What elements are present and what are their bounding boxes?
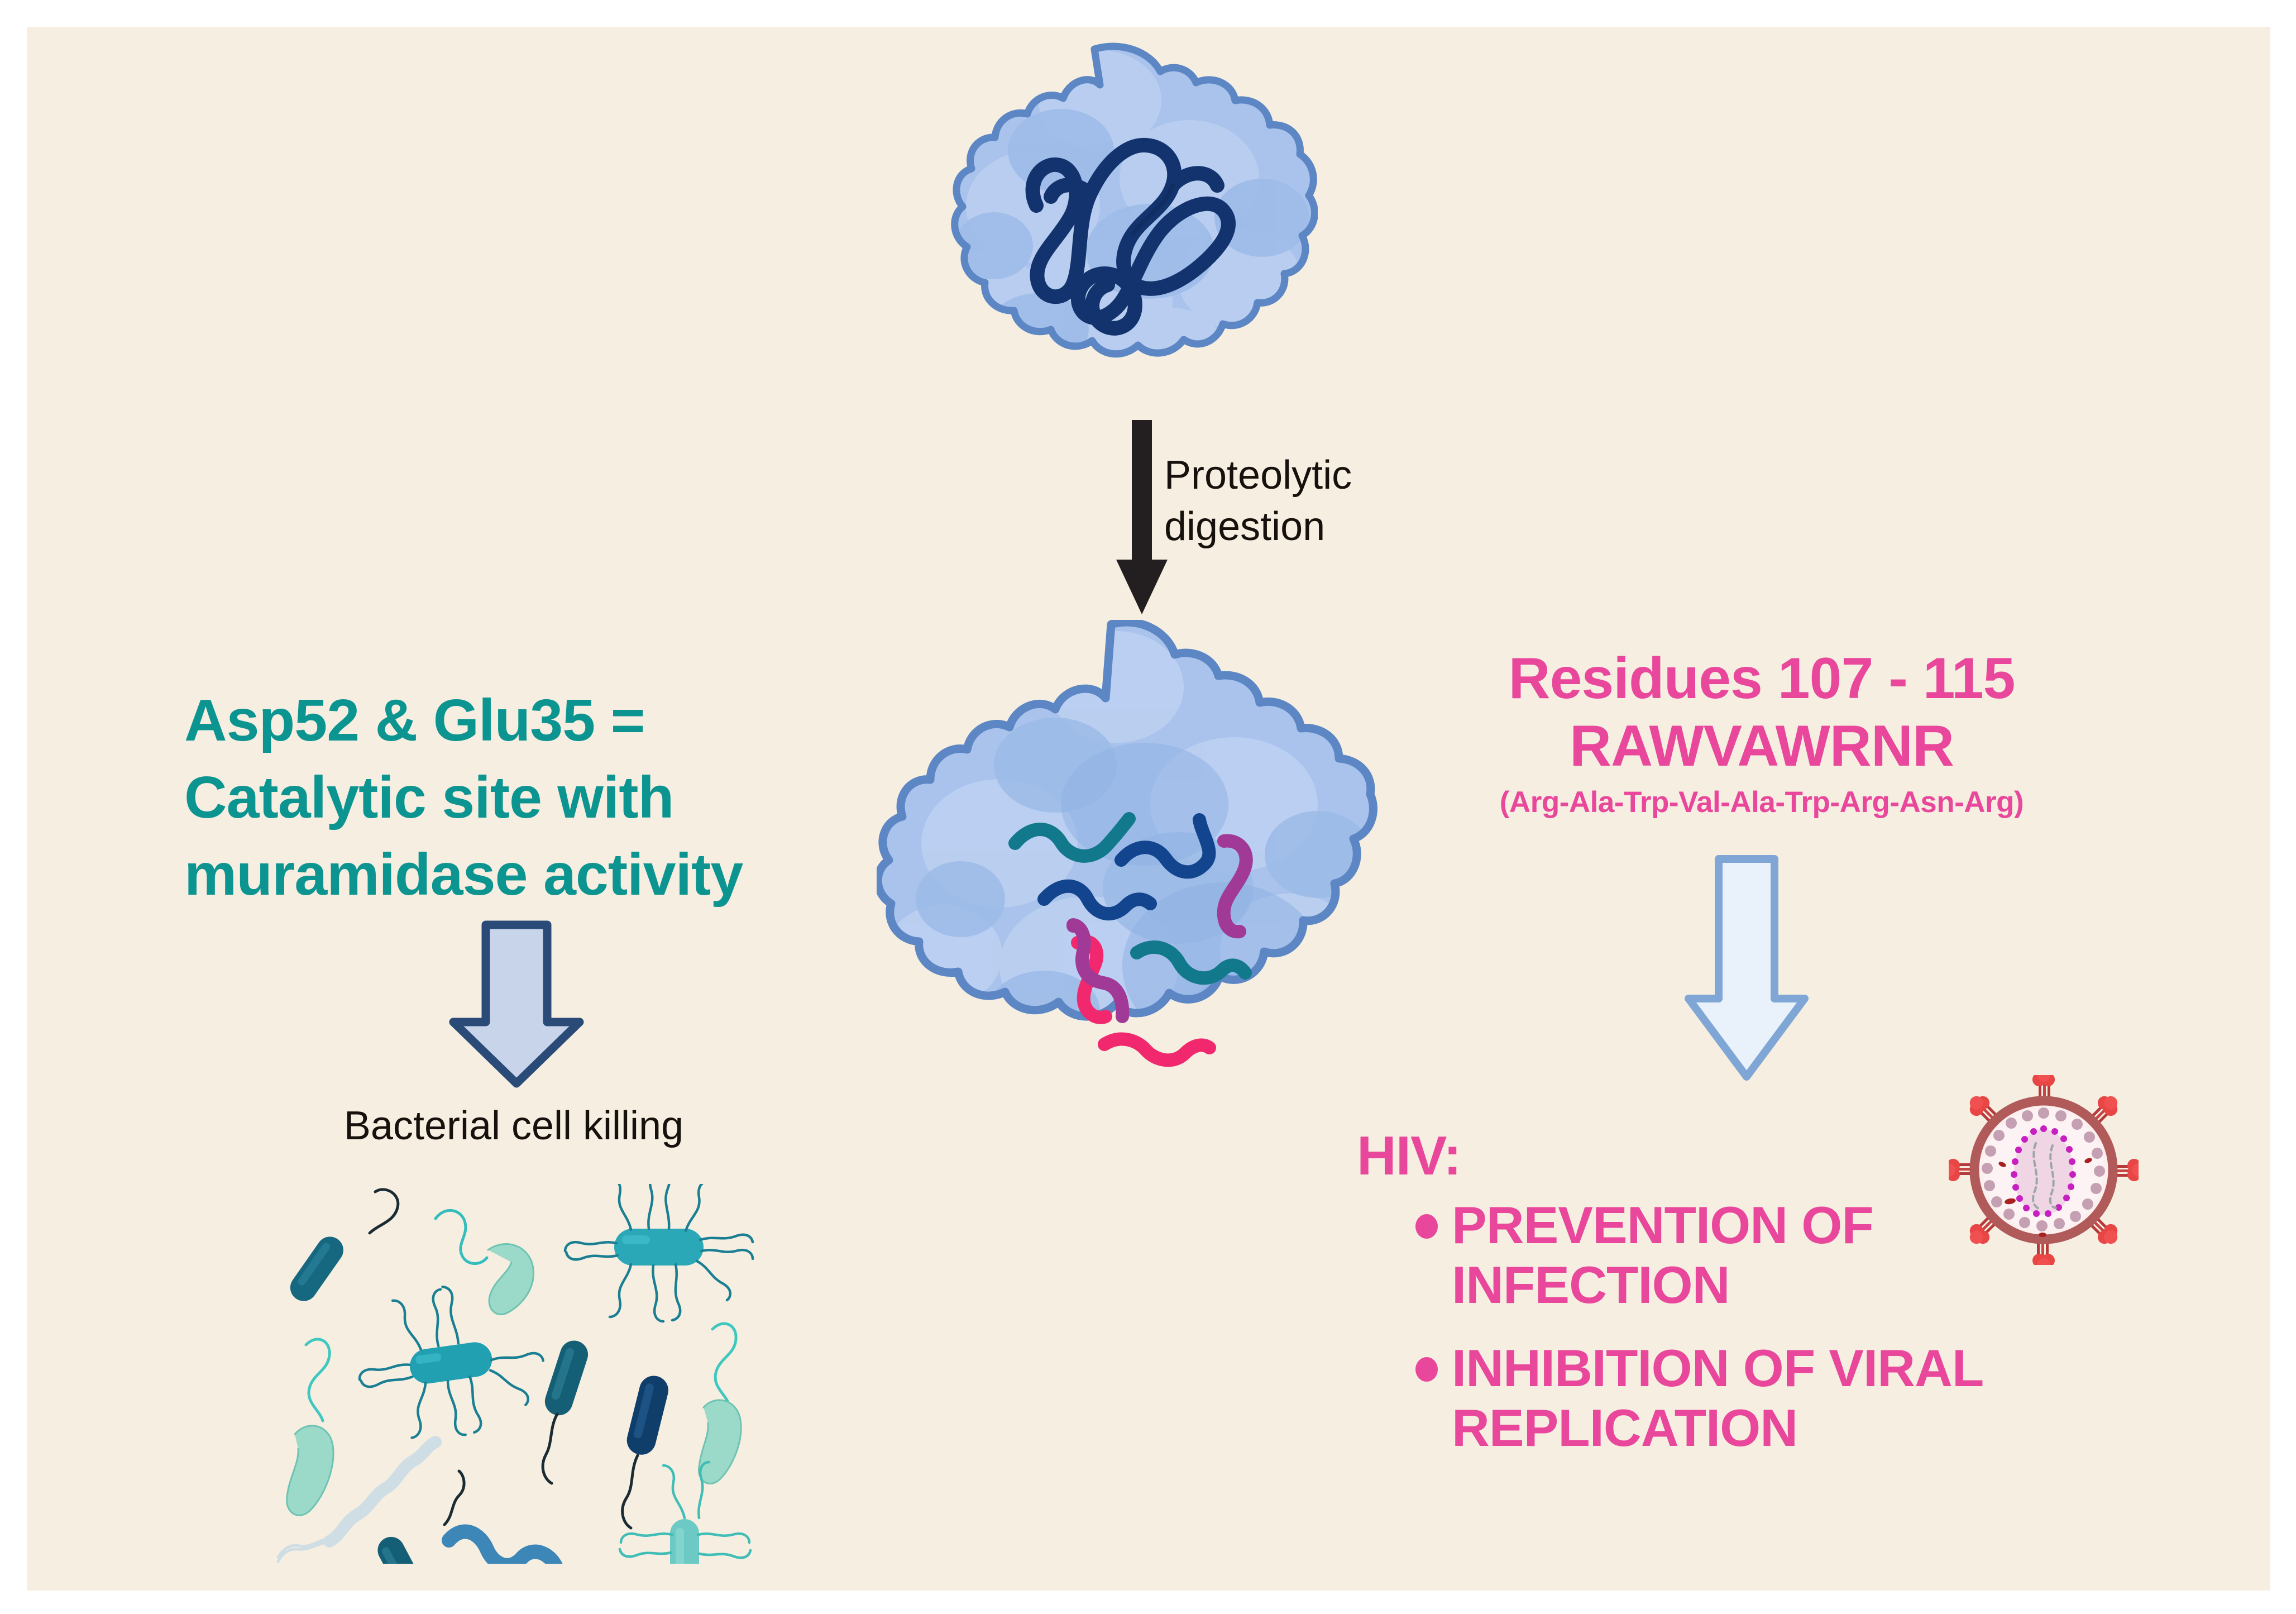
left-block-arrow-down-icon bbox=[441, 920, 592, 1088]
residues-heading: Residues 107 - 115 RAWVAWRNR (Arg-Ala-Tr… bbox=[1427, 645, 2097, 822]
right-block-arrow-down-icon bbox=[1675, 854, 1843, 1089]
residues-heading-line3: (Arg-Ala-Trp-Val-Ala-Trp-Arg-Asn-Arg) bbox=[1427, 784, 2097, 821]
catalytic-heading-line1: Asp52 & Glu35 = bbox=[184, 682, 821, 760]
hiv-outcome-text: PREVENTION OF INFECTION bbox=[1452, 1196, 1873, 1314]
residues-heading-line2: RAWVAWRNR bbox=[1427, 713, 2097, 780]
hiv-outcome-text: INHIBITION OF VIRAL REPLICATION bbox=[1452, 1339, 1983, 1457]
list-item: INHIBITION OF VIRAL REPLICATION bbox=[1357, 1338, 2094, 1458]
bullet-icon bbox=[1415, 1214, 1438, 1239]
catalytic-heading-line2: Catalytic site with bbox=[184, 760, 821, 837]
catalytic-site-heading: Asp52 & Glu35 = Catalytic site with mura… bbox=[184, 682, 821, 913]
bacterial-killing-label: Bacterial cell killing bbox=[313, 1103, 715, 1149]
protein-intact-icon bbox=[927, 39, 1318, 413]
process-label-line1: Proteolytic bbox=[1164, 450, 1421, 501]
process-arrow-label: Proteolytic digestion bbox=[1164, 450, 1421, 552]
bacteria-cluster-icon bbox=[246, 1184, 771, 1564]
bullet-icon bbox=[1415, 1357, 1438, 1382]
process-label-line2: digestion bbox=[1164, 501, 1421, 552]
residues-heading-line1: Residues 107 - 115 bbox=[1427, 645, 2097, 713]
protein-digested-icon bbox=[877, 620, 1379, 1117]
figure-canvas: Proteolytic digestion bbox=[0, 0, 2296, 1614]
catalytic-heading-line3: muramidase activity bbox=[184, 837, 821, 914]
hiv-virion-icon bbox=[1949, 1075, 2139, 1265]
